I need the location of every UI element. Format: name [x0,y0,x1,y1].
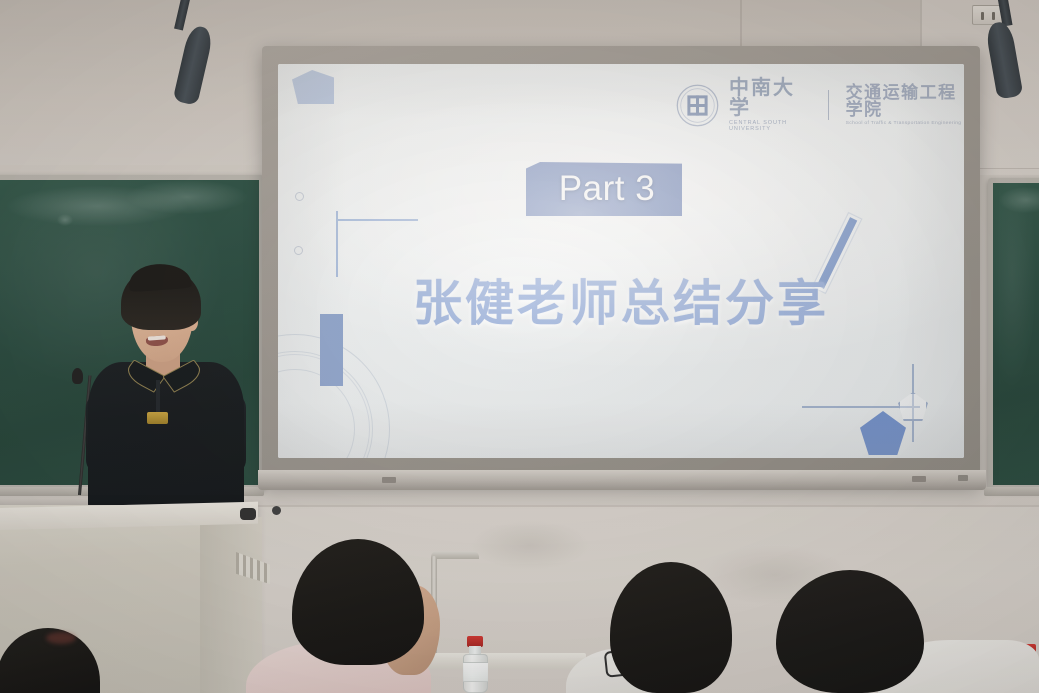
university-name-en: CENTRAL SOUTH UNIVERSITY [729,121,811,131]
header-divider [828,90,829,120]
school-name-en: School of Traffic & Transportation Engin… [846,121,964,126]
slide-header-logo: 中南大学 CENTRAL SOUTH UNIVERSITY 交通运输工程学院 S… [676,78,964,132]
ledge-clip-left [382,477,396,483]
school-name-cn: 交通运输工程学院 [846,84,964,118]
chalk-tray-right [984,487,1039,496]
deco-dot-1 [295,192,304,201]
university-name-cn: 中南大学 [729,78,811,118]
classroom-photo-scene: 中南大学 CENTRAL SOUTH UNIVERSITY 交通运输工程学院 S… [0,0,1039,693]
ledge-clip-right-2 [958,475,968,481]
ledge-clip-right [912,476,926,482]
slide-title: 张健老师总结分享 [278,264,964,335]
chalk-smear-2 [127,180,247,214]
projection-screen-surface: 中南大学 CENTRAL SOUTH UNIVERSITY 交通运输工程学院 S… [278,64,964,458]
lectern-knob-2 [272,506,281,515]
desk-rail-top [431,551,479,559]
csu-seal-icon [676,84,719,127]
wall-smudge-2 [470,520,590,570]
graduation-cap-icon [292,70,334,104]
part-badge-label: Part 3 [559,169,655,209]
school-name-block: 交通运输工程学院 School of Traffic & Transportat… [846,84,964,126]
part-badge: Part 3 [526,162,682,216]
lectern-knob [240,508,256,520]
presenter-placket [156,380,160,414]
corner-line-horizontal [336,219,418,221]
bottle-label-center [463,662,488,682]
presenter-shirt-badge [147,412,168,424]
projection-screen-ledge [258,470,986,490]
pentagon-outline-icon [898,392,928,421]
university-name-block: 中南大学 CENTRAL SOUTH UNIVERSITY [729,78,811,132]
presentation-slide: 中南大学 CENTRAL SOUTH UNIVERSITY 交通运输工程学院 S… [278,64,964,458]
chalk-smear-right [999,187,1039,213]
green-chalkboard-right [988,178,1039,490]
chalk-mark [57,214,73,226]
presenter-torso [88,362,244,510]
projection-screen-frame: 中南大学 CENTRAL SOUTH UNIVERSITY 交通运输工程学院 S… [262,46,980,484]
microphone-icon [72,368,83,384]
deco-dot-2 [294,246,303,255]
audience-member-4-hair-highlight [46,632,76,644]
lectern-side-panel [200,517,262,693]
pentagon-filled-icon [860,411,906,455]
